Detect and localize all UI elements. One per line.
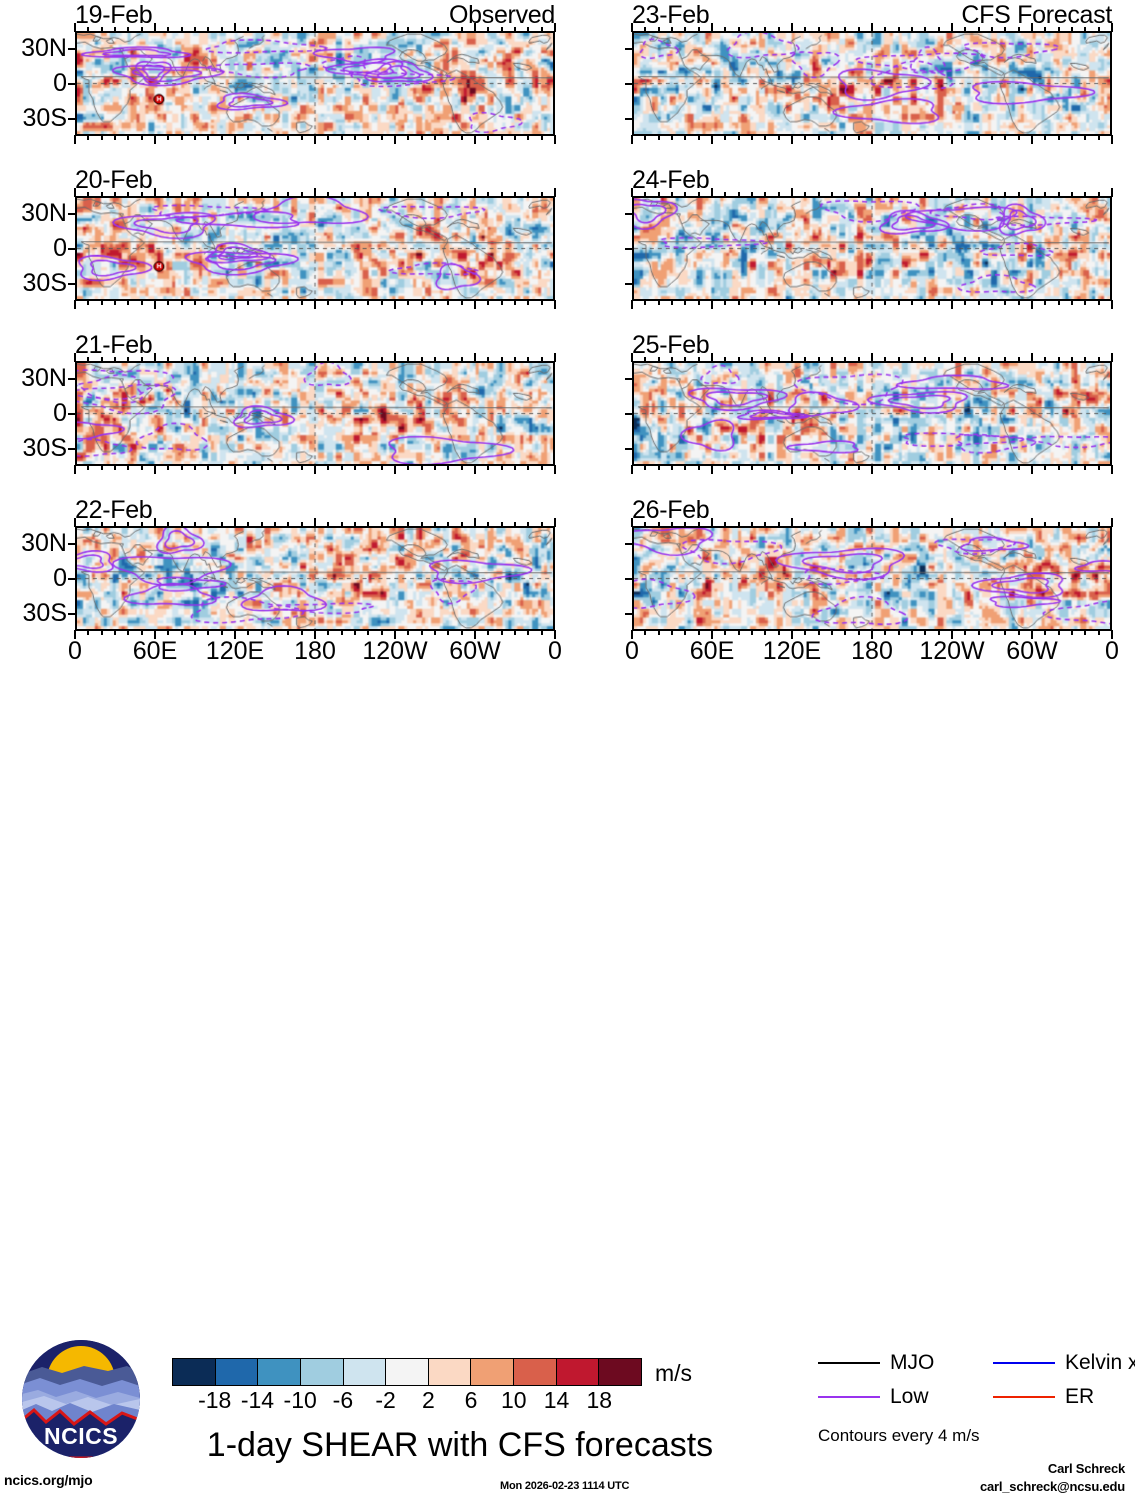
- axis-tick: [474, 465, 476, 474]
- axis-tick: [234, 135, 236, 144]
- map-frame: [632, 31, 1112, 136]
- colorbar-segment: [557, 1359, 600, 1385]
- axis-tick-y: [625, 118, 634, 120]
- panel-column-header: Observed: [449, 3, 555, 28]
- map-frame: [75, 361, 555, 466]
- axis-tick-y: [625, 283, 634, 285]
- axis-tick: [154, 135, 156, 144]
- axis-tick: [711, 300, 713, 309]
- axis-tick: [74, 300, 76, 309]
- axis-tick-y: [68, 543, 77, 545]
- axis-tick-y: [68, 613, 77, 615]
- axis-tick: [871, 135, 873, 144]
- axis-tick: [474, 300, 476, 309]
- contour-legend-label: ER: [1065, 1386, 1094, 1407]
- panel-date-label: 21-Feb: [75, 333, 152, 358]
- axis-tick: [394, 465, 396, 474]
- map-panel: 26-Feb: [632, 526, 1112, 631]
- axis-tick: [554, 465, 556, 474]
- axis-tick: [314, 465, 316, 474]
- colorbar-tick-label: -14: [241, 1386, 274, 1414]
- contour-legend-label: MJO: [890, 1352, 934, 1373]
- colorbar-tick-labels: -18-14-10-6-226101418: [172, 1386, 642, 1416]
- colorbar-tick-label: 14: [544, 1386, 570, 1414]
- shear-anomaly-map: [634, 198, 1110, 299]
- contour-interval-note: Contours every 4 m/s: [818, 1426, 980, 1446]
- axis-tick: [711, 465, 713, 474]
- axis-tick-y: [68, 48, 77, 50]
- y-axis-label: 30S: [23, 601, 67, 626]
- colorbar: [172, 1358, 642, 1386]
- ncics-logo-graphic: NCICS: [22, 1340, 140, 1458]
- map-panel: 22-Feb30N030S: [75, 526, 555, 631]
- axis-tick-y: [625, 378, 634, 380]
- panel-date-label: 26-Feb: [632, 498, 709, 523]
- y-axis-label: 0: [53, 236, 67, 261]
- axis-ticks: [75, 300, 555, 309]
- panel-date-label: 25-Feb: [632, 333, 709, 358]
- y-axis-label: 30N: [21, 36, 67, 61]
- figure-title: 1-day SHEAR with CFS forecasts: [170, 1426, 750, 1464]
- axis-tick-y: [68, 448, 77, 450]
- y-axis-label: 30N: [21, 366, 67, 391]
- axis-tick: [631, 465, 633, 474]
- map-frame: [632, 361, 1112, 466]
- axis-ticks: [632, 135, 1112, 144]
- panel-column-header: CFS Forecast: [961, 3, 1112, 28]
- colorbar-tick-label: -18: [198, 1386, 231, 1414]
- axis-tick: [951, 300, 953, 309]
- axis-tick: [791, 300, 793, 309]
- ncics-logo-text: NCICS: [44, 1423, 118, 1449]
- axis-tick: [1031, 135, 1033, 144]
- panel-date-label: 19-Feb: [75, 3, 152, 28]
- y-axis-label: 0: [53, 401, 67, 426]
- axis-tick: [314, 300, 316, 309]
- axis-ticks: [75, 135, 555, 144]
- contour-legend-line: [818, 1362, 880, 1364]
- colorbar-unit-label: m/s: [655, 1360, 692, 1386]
- contour-legend-line: [993, 1396, 1055, 1398]
- axis-tick-y: [625, 613, 634, 615]
- axis-tick: [74, 135, 76, 144]
- y-axis-label: 30S: [23, 436, 67, 461]
- author-name: Carl Schreck: [1048, 1460, 1125, 1477]
- y-axis-label: 30S: [23, 271, 67, 296]
- y-axis-label: 30N: [21, 531, 67, 556]
- axis-tick: [951, 465, 953, 474]
- site-url[interactable]: ncics.org/mjo: [4, 1472, 92, 1488]
- colorbar-segment: [173, 1359, 216, 1385]
- colorbar-segment: [386, 1359, 429, 1385]
- axis-ticks: [75, 465, 555, 474]
- contour-legend-item: MJO: [818, 1352, 934, 1373]
- colorbar-segment: [301, 1359, 344, 1385]
- shear-anomaly-map: [77, 528, 553, 629]
- axis-tick: [631, 300, 633, 309]
- axis-tick-y: [625, 578, 634, 580]
- axis-tick: [871, 300, 873, 309]
- panel-date-label: 20-Feb: [75, 168, 152, 193]
- contour-legend-item: ER: [993, 1386, 1094, 1407]
- panel-date-label: 24-Feb: [632, 168, 709, 193]
- axis-tick-y: [68, 213, 77, 215]
- axis-tick: [474, 135, 476, 144]
- axis-tick-y: [68, 413, 77, 415]
- map-panel: 23-FebCFS Forecast: [632, 31, 1112, 136]
- map-panel: 24-Feb: [632, 196, 1112, 301]
- axis-tick-y: [625, 213, 634, 215]
- axis-ticks: [632, 300, 1112, 309]
- axis-tick: [1031, 300, 1033, 309]
- axis-tick-y: [68, 283, 77, 285]
- axis-tick: [234, 300, 236, 309]
- axis-tick: [234, 465, 236, 474]
- contour-legend-line: [818, 1396, 880, 1398]
- y-axis-label: 0: [53, 71, 67, 96]
- contour-legend: MJOKelvin x2LowER: [818, 1352, 1128, 1414]
- map-frame: [75, 31, 555, 136]
- panel-date-label: 23-Feb: [632, 3, 709, 28]
- axis-tick: [394, 300, 396, 309]
- map-frame: [632, 196, 1112, 301]
- map-panel: 20-Feb30N030S: [75, 196, 555, 301]
- axis-tick: [871, 465, 873, 474]
- map-frame: [75, 196, 555, 301]
- colorbar-segment: [599, 1359, 641, 1385]
- colorbar-tick-label: 18: [586, 1386, 612, 1414]
- colorbar-segment: [216, 1359, 259, 1385]
- axis-tick: [154, 300, 156, 309]
- ncics-logo: NCICS: [22, 1340, 140, 1458]
- axis-tick: [154, 465, 156, 474]
- axis-tick-y: [68, 378, 77, 380]
- map-panel: 19-FebObserved30N030S: [75, 31, 555, 136]
- axis-tick-y: [625, 543, 634, 545]
- shear-anomaly-map: [77, 363, 553, 464]
- axis-tick: [951, 135, 953, 144]
- map-frame: [632, 526, 1112, 631]
- colorbar-segment: [471, 1359, 514, 1385]
- axis-tick: [1031, 465, 1033, 474]
- axis-tick: [394, 135, 396, 144]
- contour-legend-label: Low: [890, 1386, 929, 1407]
- map-panel: 25-Feb: [632, 361, 1112, 466]
- contour-legend-line: [993, 1362, 1055, 1364]
- axis-tick-y: [68, 118, 77, 120]
- shear-anomaly-map: [634, 33, 1110, 134]
- axis-tick: [631, 135, 633, 144]
- y-axis-label: 0: [53, 566, 67, 591]
- axis-ticks: [632, 465, 1112, 474]
- axis-tick: [554, 300, 556, 309]
- axis-tick: [791, 135, 793, 144]
- colorbar-tick-label: 6: [465, 1386, 478, 1414]
- colorbar-segment: [514, 1359, 557, 1385]
- colorbar-tick-label: 10: [501, 1386, 527, 1414]
- axis-tick-y: [625, 83, 634, 85]
- colorbar-segment: [258, 1359, 301, 1385]
- axis-tick-y: [625, 248, 634, 250]
- colorbar-tick-label: -10: [284, 1386, 317, 1414]
- axis-tick: [314, 135, 316, 144]
- axis-tick-y: [625, 48, 634, 50]
- axis-tick-y: [68, 83, 77, 85]
- map-frame: [75, 526, 555, 631]
- axis-tick-y: [625, 448, 634, 450]
- map-panel: 21-Feb30N030S: [75, 361, 555, 466]
- shear-anomaly-map: [77, 198, 553, 299]
- axis-tick-y: [68, 578, 77, 580]
- axis-tick-y: [68, 248, 77, 250]
- colorbar-segment: [429, 1359, 472, 1385]
- y-axis-label: 30N: [21, 201, 67, 226]
- colorbar-segment: [344, 1359, 387, 1385]
- colorbar-segments: [172, 1358, 642, 1386]
- author-email[interactable]: carl_schreck@ncsu.edu: [980, 1478, 1125, 1495]
- shear-anomaly-map: [77, 33, 553, 134]
- contour-legend-item: Kelvin x2: [993, 1352, 1135, 1373]
- axis-tick: [554, 135, 556, 144]
- contour-legend-label: Kelvin x2: [1065, 1352, 1135, 1373]
- axis-tick: [74, 465, 76, 474]
- panel-grid: 19-FebObserved30N030S20-Feb30N030S21-Feb…: [0, 0, 1135, 660]
- timestamp: Mon 2026-02-23 1114 UTC: [500, 1480, 629, 1492]
- shear-anomaly-map: [634, 363, 1110, 464]
- axis-tick-y: [625, 413, 634, 415]
- colorbar-tick-label: 2: [422, 1386, 435, 1414]
- axis-tick: [1111, 465, 1113, 474]
- axis-tick: [1111, 300, 1113, 309]
- axis-tick: [791, 465, 793, 474]
- panel-date-label: 22-Feb: [75, 498, 152, 523]
- legend-area: NCICS ncics.org/mjo -18-14-10-6-22610141…: [0, 660, 1135, 844]
- colorbar-tick-label: -6: [333, 1386, 353, 1414]
- colorbar-tick-label: -2: [375, 1386, 395, 1414]
- axis-tick: [711, 135, 713, 144]
- axis-tick: [1111, 135, 1113, 144]
- contour-legend-item: Low: [818, 1386, 929, 1407]
- y-axis-label: 30S: [23, 106, 67, 131]
- shear-anomaly-map: [634, 528, 1110, 629]
